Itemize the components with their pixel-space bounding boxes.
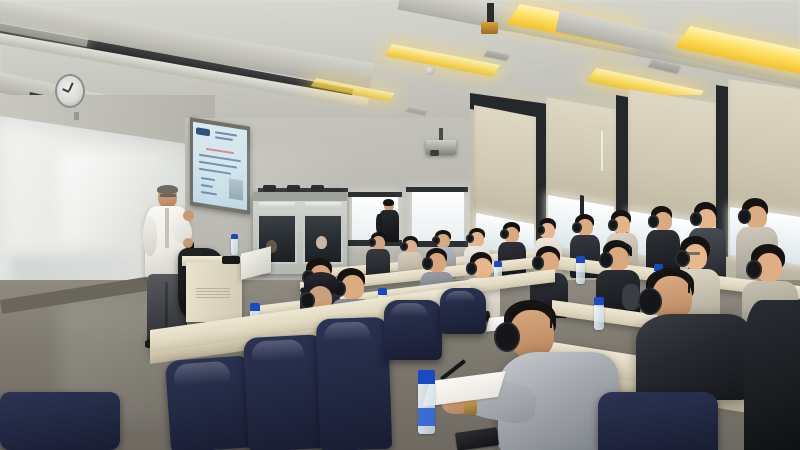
water-bottle-cap-r2-3 bbox=[576, 256, 585, 263]
attendee-foreground-right-body bbox=[636, 314, 750, 400]
headset-far-2 bbox=[400, 242, 408, 251]
headset-far-10 bbox=[690, 212, 702, 226]
standing-attendee-hair bbox=[383, 199, 394, 206]
booth-equipment-1 bbox=[263, 185, 276, 192]
headset-far-1 bbox=[368, 238, 376, 247]
conference-room-photo: Conference Room Presentation with Simult… bbox=[0, 0, 800, 450]
standing-attendee-arm bbox=[376, 214, 382, 234]
presenter-arm-left bbox=[143, 216, 157, 256]
chair-corner-right[interactable] bbox=[598, 392, 718, 450]
presenter-glasses-icon bbox=[160, 194, 176, 197]
projector-lens-icon bbox=[430, 150, 439, 156]
headset-far-8 bbox=[608, 219, 618, 231]
smoke-detector-icon bbox=[425, 66, 435, 75]
headset-mid-1 bbox=[422, 257, 433, 270]
ceiling-fixture-amber bbox=[481, 22, 498, 34]
wall-clock bbox=[55, 74, 85, 108]
booth-label-2 bbox=[305, 202, 341, 209]
headset-far-3 bbox=[432, 236, 440, 245]
slide-logo bbox=[196, 127, 210, 136]
attendee-foreground-right bbox=[620, 268, 750, 398]
chair-corner-left[interactable] bbox=[0, 392, 120, 450]
headset-mid-2 bbox=[466, 262, 477, 275]
chair-mid-2[interactable] bbox=[440, 288, 486, 334]
headset-band-grey-sweater bbox=[506, 302, 552, 328]
water-bottle-cap-red-hoodie bbox=[250, 303, 260, 311]
headset-band-dark-vest bbox=[604, 242, 632, 256]
headset-mid-3 bbox=[532, 256, 544, 270]
booth-equipment-3 bbox=[311, 185, 324, 192]
chair-front-1[interactable] bbox=[165, 355, 257, 450]
lectern-equipment bbox=[222, 256, 240, 264]
presenter-hand-gesture bbox=[183, 210, 194, 221]
chair-mid-1[interactable] bbox=[384, 300, 442, 360]
interpreter-booth-2 bbox=[303, 214, 343, 264]
headset-far-6 bbox=[536, 225, 545, 235]
booth-top-shelf bbox=[253, 192, 347, 201]
headset-far-5 bbox=[500, 229, 509, 239]
water-bottle-cap-r3-1 bbox=[378, 288, 387, 295]
headset-far-4 bbox=[466, 234, 474, 243]
lectern-vent-grill bbox=[196, 288, 230, 298]
water-bottle-cap-lectern bbox=[231, 234, 238, 239]
presenter-hand-clicker bbox=[183, 238, 193, 248]
headset-band-foreground-right bbox=[648, 269, 690, 293]
attendee-edge-silhouette bbox=[744, 300, 800, 450]
blind-pull-rod-2[interactable] bbox=[601, 131, 603, 171]
attendee-beige-coat-glasses-icon bbox=[686, 252, 700, 255]
chair-front-3[interactable] bbox=[316, 317, 393, 450]
presenter-shirt-placket bbox=[165, 208, 169, 248]
water-bottle-lectern[interactable] bbox=[231, 238, 238, 255]
water-bottle-label-foreground bbox=[418, 408, 435, 426]
presenter-hair bbox=[157, 185, 178, 194]
roller-blind-1[interactable] bbox=[474, 105, 536, 229]
wristwatch bbox=[464, 400, 477, 415]
wall-switch bbox=[74, 112, 79, 120]
roller-blind-2[interactable] bbox=[546, 97, 616, 209]
booth-equipment-2 bbox=[287, 185, 300, 192]
headset-far-11 bbox=[738, 209, 751, 224]
water-bottle-cap-foreground bbox=[418, 370, 435, 384]
booth-label-1 bbox=[259, 202, 295, 209]
interpreter-2 bbox=[316, 236, 327, 249]
water-bottle-r2-3[interactable] bbox=[576, 262, 585, 284]
headset-far-7 bbox=[572, 222, 582, 233]
headset-far-9 bbox=[648, 215, 659, 228]
